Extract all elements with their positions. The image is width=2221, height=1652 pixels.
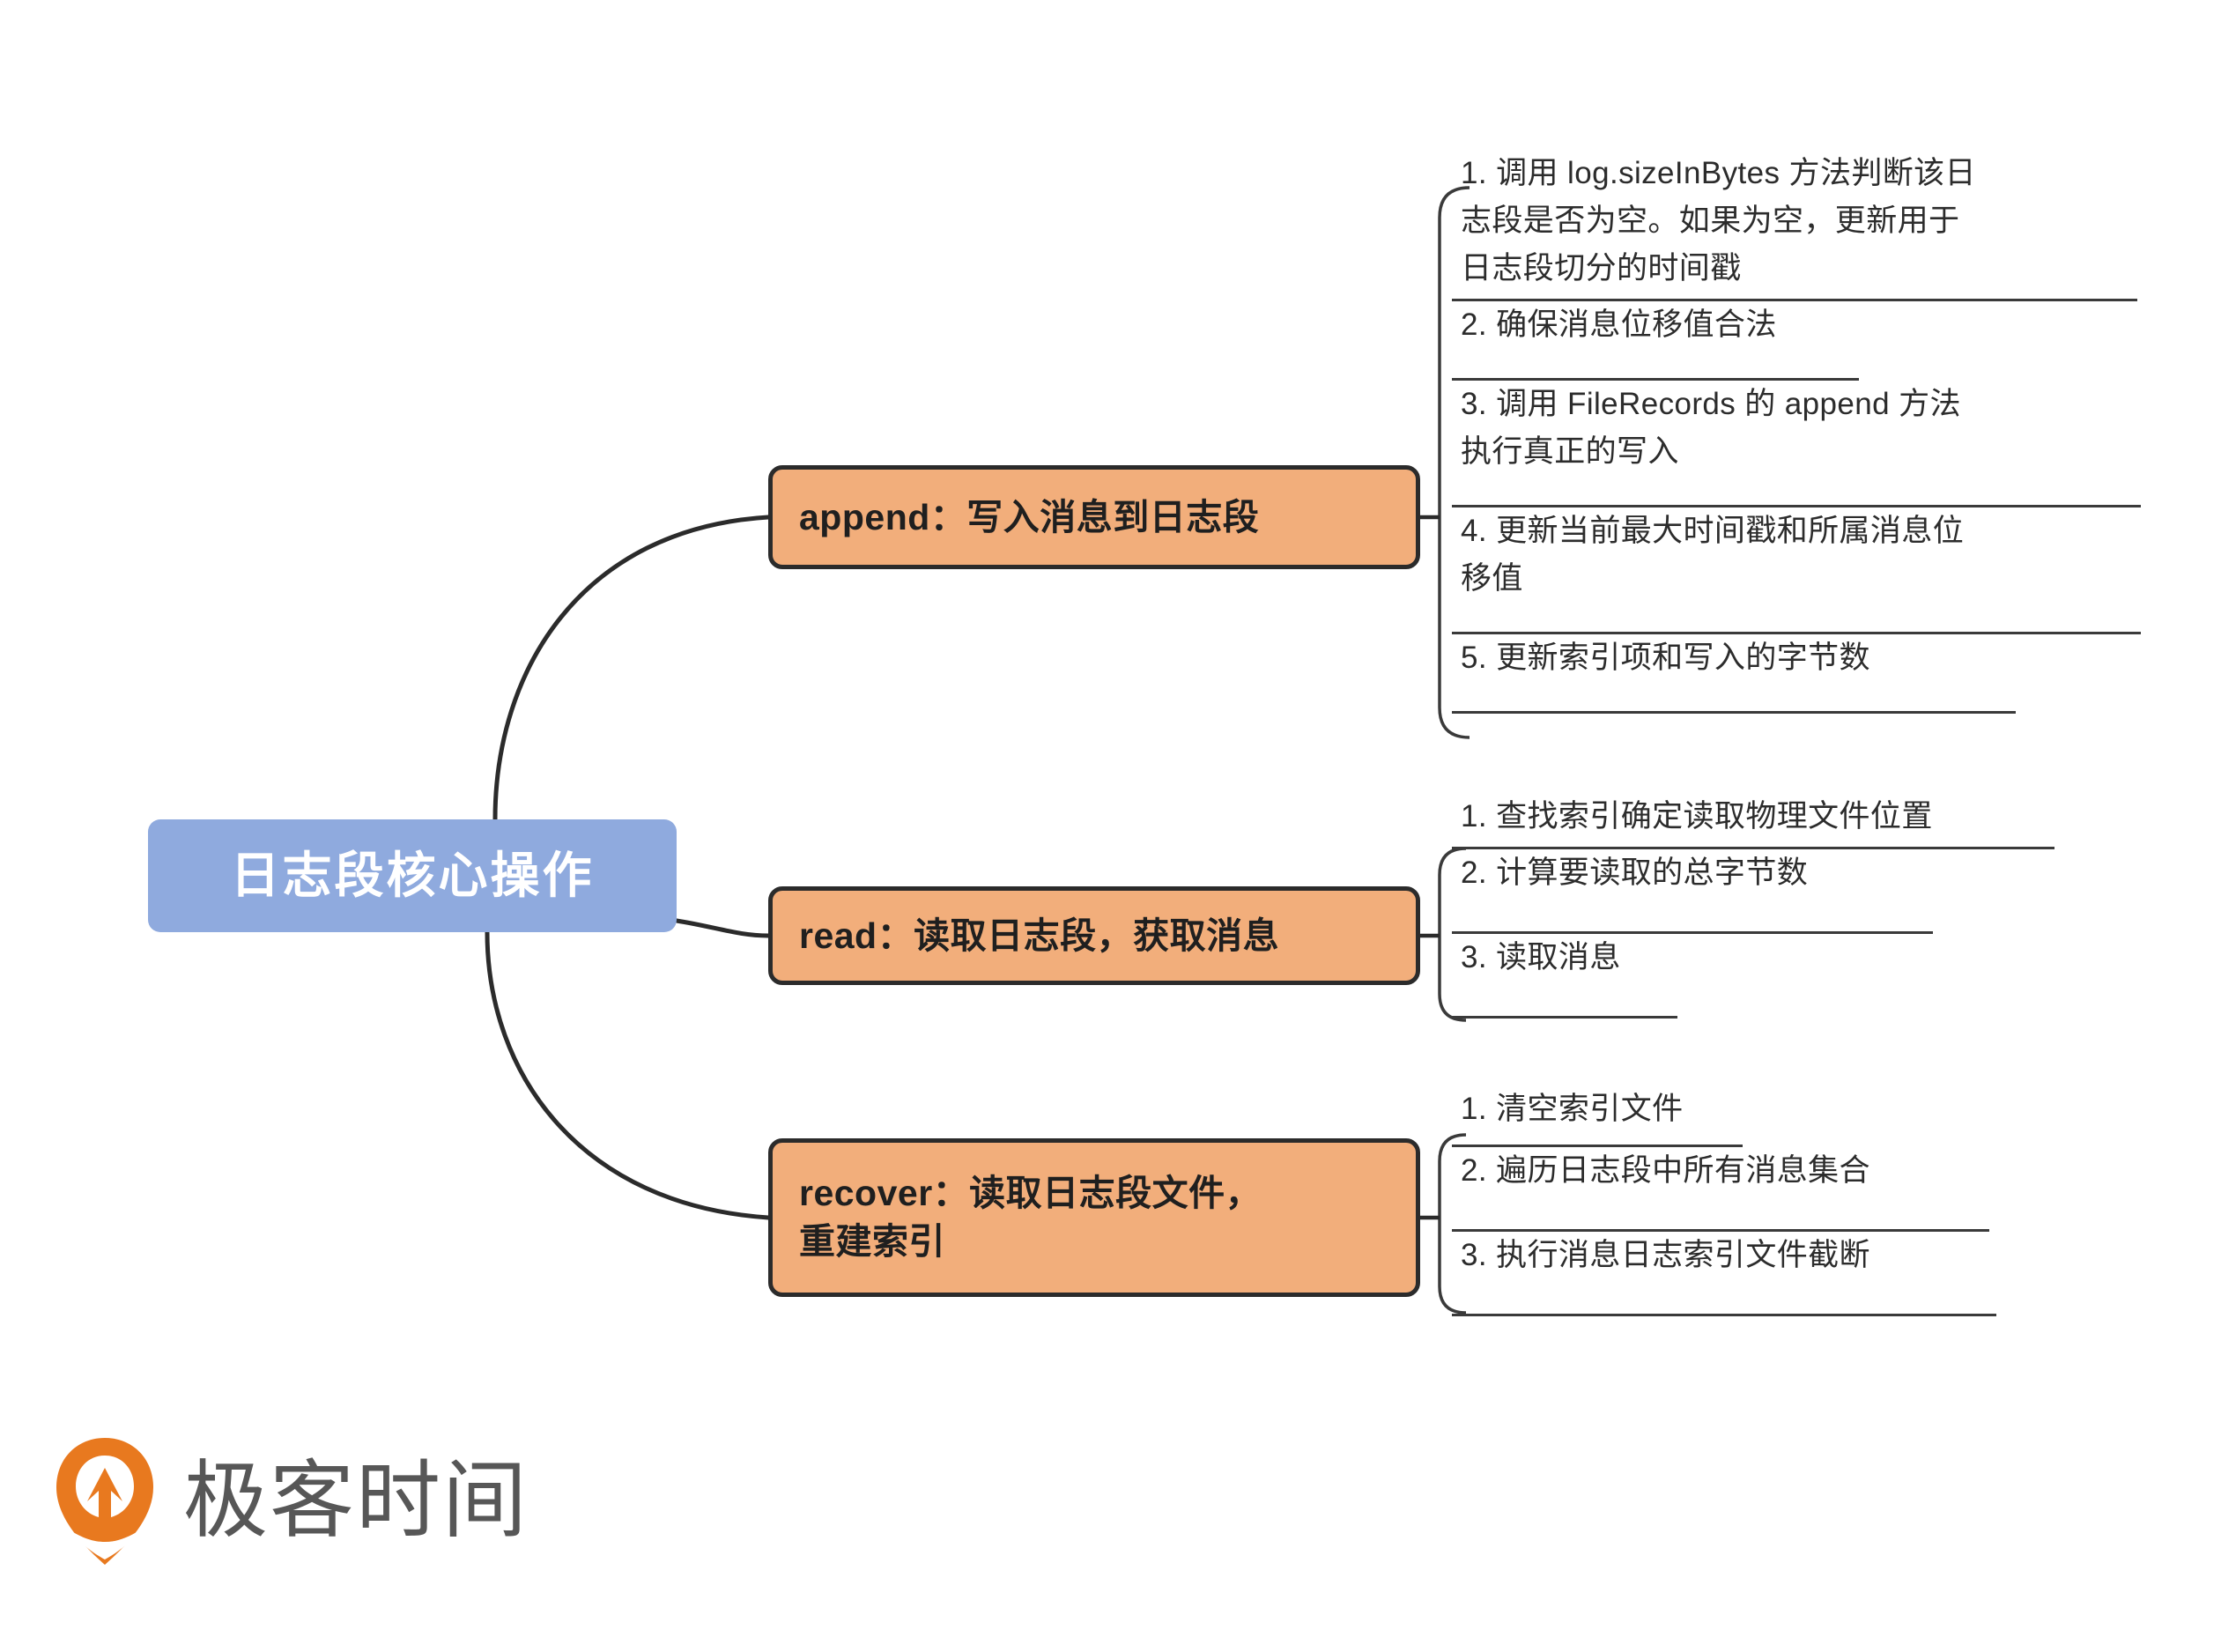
leaf-item[interactable]: 3. 调用 FileRecords 的 append 方法 执行真正的写入 (1440, 381, 2144, 507)
root-node-label: 日志段核心操作 (231, 848, 595, 903)
leaf-item-text: 1. 查找索引确定读取物理文件位置 (1461, 793, 2074, 841)
leaf-item-text: 2. 遍历日志段中所有消息集合 (1461, 1147, 2056, 1195)
leaf-item[interactable]: 1. 查找索引确定读取物理文件位置 (1440, 793, 2074, 849)
geektime-pin-icon (51, 1436, 159, 1567)
branch-node-read-label: read：读取日志段，获取消息 (799, 912, 1279, 960)
leaf-item-text: 4. 更新当前最大时间戳和所属消息位 移值 (1461, 507, 2144, 603)
branch-node-append-label: append：写入消息到日志段 (799, 493, 1259, 542)
leaf-group-append: 1. 调用 log.sizeInBytes 方法判断该日 志段是否为空。如果为空… (1440, 150, 2144, 714)
link-root-to-read (677, 921, 768, 936)
leaf-item-text: 5. 更新索引项和写入的字节数 (1461, 634, 2144, 682)
leaf-item-text: 2. 计算要读取的总字节数 (1461, 849, 2074, 897)
leaf-item[interactable]: 1. 调用 log.sizeInBytes 方法判断该日 志段是否为空。如果为空… (1440, 150, 2144, 301)
link-root-to-recover (487, 932, 768, 1218)
link-root-to-append (495, 517, 768, 819)
leaf-item[interactable]: 4. 更新当前最大时间戳和所属消息位 移值 (1440, 507, 2144, 634)
leaf-item[interactable]: 1. 清空索引文件 (1440, 1085, 2056, 1147)
leaf-item[interactable]: 2. 计算要读取的总字节数 (1440, 849, 2074, 934)
leaf-item[interactable]: 2. 遍历日志段中所有消息集合 (1440, 1147, 2056, 1232)
leaf-group-read: 1. 查找索引确定读取物理文件位置 2. 计算要读取的总字节数 3. 读取消息 (1440, 793, 2074, 1019)
leaf-item-text: 3. 调用 FileRecords 的 append 方法 执行真正的写入 (1461, 381, 2144, 476)
leaf-item[interactable]: 3. 读取消息 (1440, 934, 2074, 1019)
leaf-underline (1452, 711, 2016, 714)
leaf-item-text: 2. 确保消息位移值合法 (1461, 301, 2144, 349)
branch-node-recover-label: recover：读取日志段文件， 重建索引 (799, 1169, 1262, 1266)
geektime-logo-text: 极客时间 (183, 1459, 529, 1544)
branch-node-read[interactable]: read：读取日志段，获取消息 (768, 886, 1420, 985)
leaf-item[interactable]: 2. 确保消息位移值合法 (1440, 301, 2144, 381)
root-node[interactable]: 日志段核心操作 (148, 819, 677, 932)
leaf-item-text: 1. 调用 log.sizeInBytes 方法判断该日 志段是否为空。如果为空… (1461, 150, 2144, 293)
leaf-group-recover: 1. 清空索引文件 2. 遍历日志段中所有消息集合 3. 执行消息日志索引文件截… (1440, 1085, 2056, 1316)
leaf-item-text: 3. 执行消息日志索引文件截断 (1461, 1232, 2056, 1279)
branch-node-recover[interactable]: recover：读取日志段文件， 重建索引 (768, 1138, 1420, 1297)
leaf-underline (1452, 1314, 1996, 1316)
leaf-item[interactable]: 5. 更新索引项和写入的字节数 (1440, 634, 2144, 714)
leaf-item-text: 3. 读取消息 (1461, 934, 2074, 982)
leaf-item[interactable]: 3. 执行消息日志索引文件截断 (1440, 1232, 2056, 1316)
geektime-logo: 极客时间 (51, 1436, 529, 1567)
branch-node-append[interactable]: append：写入消息到日志段 (768, 465, 1420, 569)
mindmap-canvas: 日志段核心操作 append：写入消息到日志段 1. 调用 log.sizeIn… (0, 0, 2221, 1652)
leaf-underline (1452, 1016, 1677, 1019)
leaf-item-text: 1. 清空索引文件 (1461, 1085, 2056, 1133)
